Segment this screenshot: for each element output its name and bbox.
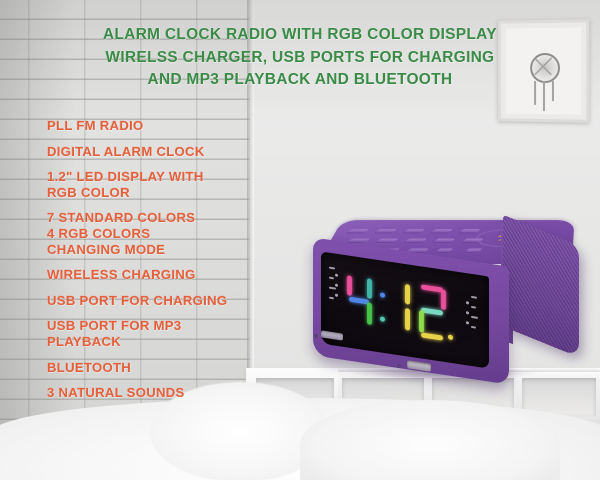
display-indicator-dot bbox=[466, 301, 469, 304]
display-indicator-left bbox=[329, 287, 336, 290]
display-indicator-left bbox=[329, 297, 334, 300]
led-dot bbox=[380, 316, 385, 322]
feature-text: USB PORT FOR MP3 bbox=[47, 318, 317, 334]
product-alarm-clock-radio: ⚡ bbox=[305, 186, 590, 391]
feature-text: USB PORT FOR CHARGING bbox=[47, 293, 317, 309]
led-segment bbox=[405, 308, 410, 331]
headline-line-3: AND MP3 PLAYBACK AND BLUETOOTH bbox=[0, 69, 600, 92]
led-dot bbox=[380, 292, 385, 298]
feature-text: 4 RGB COLORS bbox=[47, 226, 317, 242]
control-button[interactable] bbox=[465, 248, 483, 252]
advertisement-image: ALARM CLOCK RADIO WITH RGB COLOR DISPLAY… bbox=[0, 0, 600, 480]
feature-text: WIRELESS CHARGING bbox=[47, 267, 317, 283]
feature-item-usb-mp3: USB PORT FOR MP3 PLAYBACK bbox=[47, 318, 317, 349]
control-button[interactable] bbox=[376, 239, 399, 243]
display-indicator-dot bbox=[335, 274, 338, 277]
feature-item-bluetooth: BLUETOOTH bbox=[47, 360, 317, 376]
display-indicator-right bbox=[471, 306, 476, 309]
feature-text: DIGITAL ALARM CLOCK bbox=[47, 144, 317, 160]
feature-text: 3 NATURAL SOUNDS bbox=[47, 385, 317, 401]
headline-line-1: ALARM CLOCK RADIO WITH RGB COLOR DISPLAY bbox=[0, 24, 600, 47]
led-segment bbox=[367, 278, 372, 299]
led-segment bbox=[405, 284, 410, 305]
led-segment bbox=[421, 284, 443, 292]
clock-time-readout bbox=[347, 271, 463, 344]
display-indicator-right bbox=[471, 316, 478, 319]
feature-text: RGB COLOR bbox=[47, 185, 317, 201]
led-segment bbox=[367, 302, 372, 325]
feature-item-natural-sounds: 3 NATURAL SOUNDS bbox=[47, 385, 317, 401]
feature-item-digital-alarm-clock: DIGITAL ALARM CLOCK bbox=[47, 144, 317, 160]
control-button[interactable] bbox=[431, 229, 453, 232]
feature-text: 7 STANDARD COLORS bbox=[47, 210, 317, 226]
led-segment bbox=[441, 289, 446, 310]
feature-list: PLL FM RADIO DIGITAL ALARM CLOCK 1.2" LE… bbox=[47, 118, 317, 411]
control-button[interactable] bbox=[404, 239, 427, 243]
control-button[interactable] bbox=[347, 229, 370, 232]
pillow bbox=[300, 400, 560, 480]
feature-item-pll-fm-radio: PLL FM RADIO bbox=[47, 118, 317, 134]
display-indicator-dot bbox=[335, 294, 338, 297]
display-indicator-left bbox=[329, 267, 335, 270]
display-indicator-left bbox=[329, 277, 334, 280]
feature-text: PLAYBACK bbox=[47, 334, 317, 350]
headline-line-2: WIRELSS CHARGER, USB PORTS FOR CHARGING bbox=[0, 47, 600, 70]
led-segment bbox=[349, 297, 369, 304]
feature-text: 1.2" LED DISPLAY WITH bbox=[47, 169, 317, 185]
display-indicator-dot bbox=[466, 321, 469, 324]
control-button[interactable] bbox=[435, 248, 453, 252]
feature-item-usb-charging: USB PORT FOR CHARGING bbox=[47, 293, 317, 309]
feature-text: BLUETOOTH bbox=[47, 360, 317, 376]
display-indicator-right bbox=[471, 326, 476, 329]
led-segment bbox=[419, 310, 424, 333]
usb-center-indicator-led bbox=[397, 364, 401, 369]
control-button[interactable] bbox=[403, 229, 425, 232]
control-button[interactable] bbox=[459, 229, 481, 232]
display-indicator-dot bbox=[466, 311, 469, 314]
feature-item-colors: 7 STANDARD COLORS 4 RGB COLORS CHANGING … bbox=[47, 210, 317, 257]
feature-item-wireless-charging: WIRELESS CHARGING bbox=[47, 267, 317, 283]
led-segment bbox=[347, 275, 352, 296]
display-indicator-right bbox=[471, 296, 477, 299]
headline: ALARM CLOCK RADIO WITH RGB COLOR DISPLAY… bbox=[0, 24, 600, 92]
led-segment bbox=[421, 307, 443, 315]
usb-left-indicator-led bbox=[314, 334, 318, 339]
display-indicator-dot bbox=[335, 284, 338, 287]
feature-text: CHANGING MODE bbox=[47, 242, 317, 258]
led-segment bbox=[421, 332, 443, 340]
control-button[interactable] bbox=[375, 229, 398, 232]
control-button[interactable] bbox=[433, 239, 456, 243]
led-dot bbox=[448, 334, 453, 340]
control-button[interactable] bbox=[347, 239, 370, 243]
feature-item-led-display: 1.2" LED DISPLAY WITH RGB COLOR bbox=[47, 169, 317, 200]
feature-text: PLL FM RADIO bbox=[47, 118, 317, 134]
